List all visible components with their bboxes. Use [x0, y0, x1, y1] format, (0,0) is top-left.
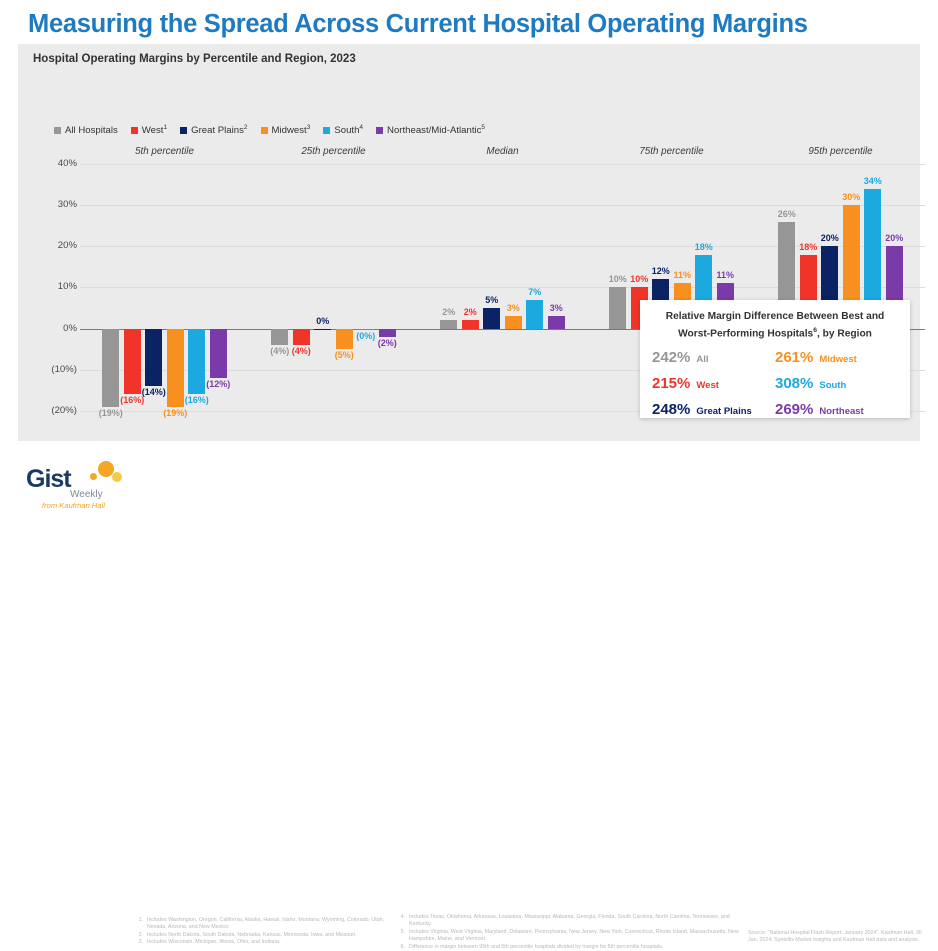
callout-title-line1: Relative Margin Difference Between Best …	[666, 311, 885, 322]
legend-label: West1	[142, 124, 167, 136]
legend-item-south: South4	[323, 124, 363, 136]
callout-item-great-plains: 248%Great Plains	[652, 401, 775, 418]
y-axis-tick-label: 20%	[31, 240, 77, 251]
callout-grid: 242%All261%Midwest215%West308%South248%G…	[652, 349, 898, 418]
footnote-row: 1.Includes Washington, Oregon, Californi…	[136, 917, 391, 932]
footer: Gist Weekly from Kaufman Hall 1.Includes…	[0, 441, 938, 519]
legend-swatch-icon	[261, 127, 268, 134]
bar-value-label: 12%	[652, 266, 670, 276]
bar[interactable]	[440, 320, 457, 328]
legend-item-great-plains: Great Plains2	[180, 124, 247, 136]
callout-percent: 215%	[652, 375, 690, 392]
bar[interactable]	[609, 287, 626, 328]
legend-superscript: 3	[307, 124, 311, 131]
bar-value-label: 20%	[821, 233, 839, 243]
bar-value-label: 3%	[550, 303, 563, 313]
y-axis-tick-label: 10%	[31, 281, 77, 292]
bar[interactable]	[483, 308, 500, 329]
logo-wordmark: Gist	[26, 465, 71, 494]
y-axis-tick-label: 0%	[31, 323, 77, 334]
bar-value-label: 30%	[842, 192, 860, 202]
x-axis-group-label: Median	[486, 146, 518, 157]
callout-region-name: Northeast	[819, 406, 863, 417]
gist-weekly-logo: Gist Weekly from Kaufman Hall	[24, 459, 136, 511]
bar-value-label: 18%	[799, 242, 817, 252]
bar-value-label: 5%	[485, 295, 498, 305]
legend-item-midwest: Midwest3	[261, 124, 311, 136]
footnote-text: Includes Virginia, West Virginia, Maryla…	[409, 929, 743, 944]
footnote-text: Includes North Dakota, South Dakota, Neb…	[147, 932, 391, 939]
source-note: Source: “National Hospital Flash Report:…	[748, 930, 928, 945]
legend-item-west: West1	[131, 124, 167, 136]
bar-value-label: 20%	[885, 233, 903, 243]
legend-item-all-hospitals: All Hospitals	[54, 125, 118, 136]
bar[interactable]	[124, 329, 141, 395]
bar[interactable]	[336, 329, 353, 350]
footnote-number: 4.	[398, 914, 405, 929]
bar-value-label: (2%)	[378, 338, 397, 348]
bar-value-label: 10%	[609, 274, 627, 284]
bar-value-label: 26%	[778, 209, 796, 219]
bar-value-label: (4%)	[270, 346, 289, 356]
bar-value-label: 10%	[630, 274, 648, 284]
bar[interactable]	[548, 316, 565, 328]
legend-superscript: 1	[163, 124, 167, 131]
bar-value-label: 11%	[716, 270, 734, 280]
callout-region-name: West	[696, 380, 719, 391]
callout-box: Relative Margin Difference Between Best …	[640, 300, 910, 418]
logo-circle-small-icon	[90, 473, 97, 480]
bar-value-label: (14%)	[142, 387, 166, 397]
bar[interactable]	[357, 329, 374, 331]
footnote-row: 3.Includes Wisconsin, Michigan, Illinois…	[136, 939, 391, 946]
bar[interactable]	[505, 316, 522, 328]
bar[interactable]	[167, 329, 184, 407]
bar[interactable]	[271, 329, 288, 345]
y-axis-tick-label: (10%)	[31, 364, 77, 375]
bar-value-label: (0%)	[356, 331, 375, 341]
bar-value-label: 34%	[864, 176, 882, 186]
logo-circle-medium-icon	[112, 472, 122, 482]
legend-label: All Hospitals	[65, 125, 118, 136]
footnote-text: Includes Wisconsin, Michigan, Illinois, …	[147, 939, 391, 946]
grid-line	[80, 287, 925, 288]
bar-value-label: (4%)	[292, 346, 311, 356]
footnote-number: 2.	[136, 932, 143, 939]
legend-swatch-icon	[323, 127, 330, 134]
logo-weekly-text: Weekly	[70, 489, 103, 500]
x-axis-group-label: 75th percentile	[639, 146, 703, 157]
bar[interactable]	[526, 300, 543, 329]
bar-value-label: (16%)	[120, 395, 144, 405]
bar-value-label: 2%	[464, 307, 477, 317]
callout-item-northeast: 269%Northeast	[775, 401, 898, 418]
footnotes-left: 1.Includes Washington, Oregon, Californi…	[136, 917, 391, 947]
bar[interactable]	[210, 329, 227, 378]
bar-value-label: 7%	[528, 287, 541, 297]
bar-value-label: (5%)	[335, 350, 354, 360]
bar-value-label: (12%)	[206, 379, 230, 389]
footnote-number: 6.	[398, 944, 405, 951]
bar[interactable]	[188, 329, 205, 395]
footnote-row: 4.Includes Texas, Oklahoma, Arkansas, Lo…	[398, 914, 743, 929]
footnote-number: 3.	[136, 939, 143, 946]
callout-region-name: Great Plains	[696, 406, 751, 417]
footnote-text: Includes Texas, Oklahoma, Arkansas, Loui…	[409, 914, 743, 929]
footnote-row: 5.Includes Virginia, West Virginia, Mary…	[398, 929, 743, 944]
legend-label: Northeast/Mid-Atlantic5	[387, 124, 485, 136]
callout-region-name: South	[819, 380, 846, 391]
legend-item-northeast-mid-atlantic: Northeast/Mid-Atlantic5	[376, 124, 485, 136]
legend-label: South4	[334, 124, 363, 136]
legend-swatch-icon	[54, 127, 61, 134]
bar-value-label: 2%	[442, 307, 455, 317]
callout-percent: 308%	[775, 375, 813, 392]
legend-swatch-icon	[131, 127, 138, 134]
bar-value-label: (16%)	[185, 395, 209, 405]
callout-title-line2-end: , by Region	[817, 328, 872, 339]
bar[interactable]	[379, 329, 396, 337]
callout-item-all: 242%All	[652, 349, 775, 366]
bar[interactable]	[462, 320, 479, 328]
bar-value-label: 18%	[695, 242, 713, 252]
y-axis-tick-label: 30%	[31, 199, 77, 210]
footnote-row: 2.Includes North Dakota, South Dakota, N…	[136, 932, 391, 939]
x-axis-group-label: 25th percentile	[301, 146, 365, 157]
callout-title-line2: Worst-Performing Hospitals	[678, 328, 813, 339]
legend-swatch-icon	[180, 127, 187, 134]
page-title: Measuring the Spread Across Current Hosp…	[28, 10, 808, 39]
x-axis-group-label: 95th percentile	[808, 146, 872, 157]
bar-value-label: 0%	[316, 316, 329, 326]
chart-panel-title: Hospital Operating Margins by Percentile…	[33, 53, 356, 65]
chart-legend: All HospitalsWest1Great Plains2Midwest3S…	[54, 124, 485, 136]
legend-label: Great Plains2	[191, 124, 247, 136]
y-axis-tick-label: 40%	[31, 158, 77, 169]
callout-percent: 242%	[652, 349, 690, 366]
bar-value-label: (19%)	[163, 408, 187, 418]
callout-title: Relative Margin Difference Between Best …	[654, 310, 896, 341]
callout-item-midwest: 261%Midwest	[775, 349, 898, 366]
legend-swatch-icon	[376, 127, 383, 134]
footnote-text: Includes Washington, Oregon, California,…	[147, 917, 391, 932]
grid-line	[80, 205, 925, 206]
footnote-number: 5.	[398, 929, 405, 944]
callout-percent: 248%	[652, 401, 690, 418]
bar[interactable]	[314, 329, 331, 330]
bar-value-label: (19%)	[99, 408, 123, 418]
footnote-row: 6.Difference in margin between 95th and …	[398, 944, 743, 951]
callout-percent: 261%	[775, 349, 813, 366]
bar[interactable]	[102, 329, 119, 407]
footnote-text: Difference in margin between 95th and 5t…	[409, 944, 743, 951]
x-axis-group-label: 5th percentile	[135, 146, 194, 157]
bar[interactable]	[145, 329, 162, 387]
grid-line	[80, 164, 925, 165]
logo-from-text: from Kaufman Hall	[42, 501, 105, 510]
bar-value-label: 11%	[673, 270, 691, 280]
legend-superscript: 4	[359, 124, 363, 131]
callout-region-name: Midwest	[819, 354, 856, 365]
legend-superscript: 5	[481, 124, 485, 131]
bar-value-label: 3%	[507, 303, 520, 313]
callout-percent: 269%	[775, 401, 813, 418]
legend-label: Midwest3	[272, 124, 311, 136]
callout-region-name: All	[696, 354, 708, 365]
callout-item-south: 308%South	[775, 375, 898, 392]
footnote-number: 1.	[136, 917, 143, 932]
bar[interactable]	[293, 329, 310, 345]
y-axis-tick-label: (20%)	[31, 405, 77, 416]
legend-superscript: 2	[244, 124, 248, 131]
callout-item-west: 215%West	[652, 375, 775, 392]
footnotes-right: 4.Includes Texas, Oklahoma, Arkansas, Lo…	[398, 914, 743, 951]
